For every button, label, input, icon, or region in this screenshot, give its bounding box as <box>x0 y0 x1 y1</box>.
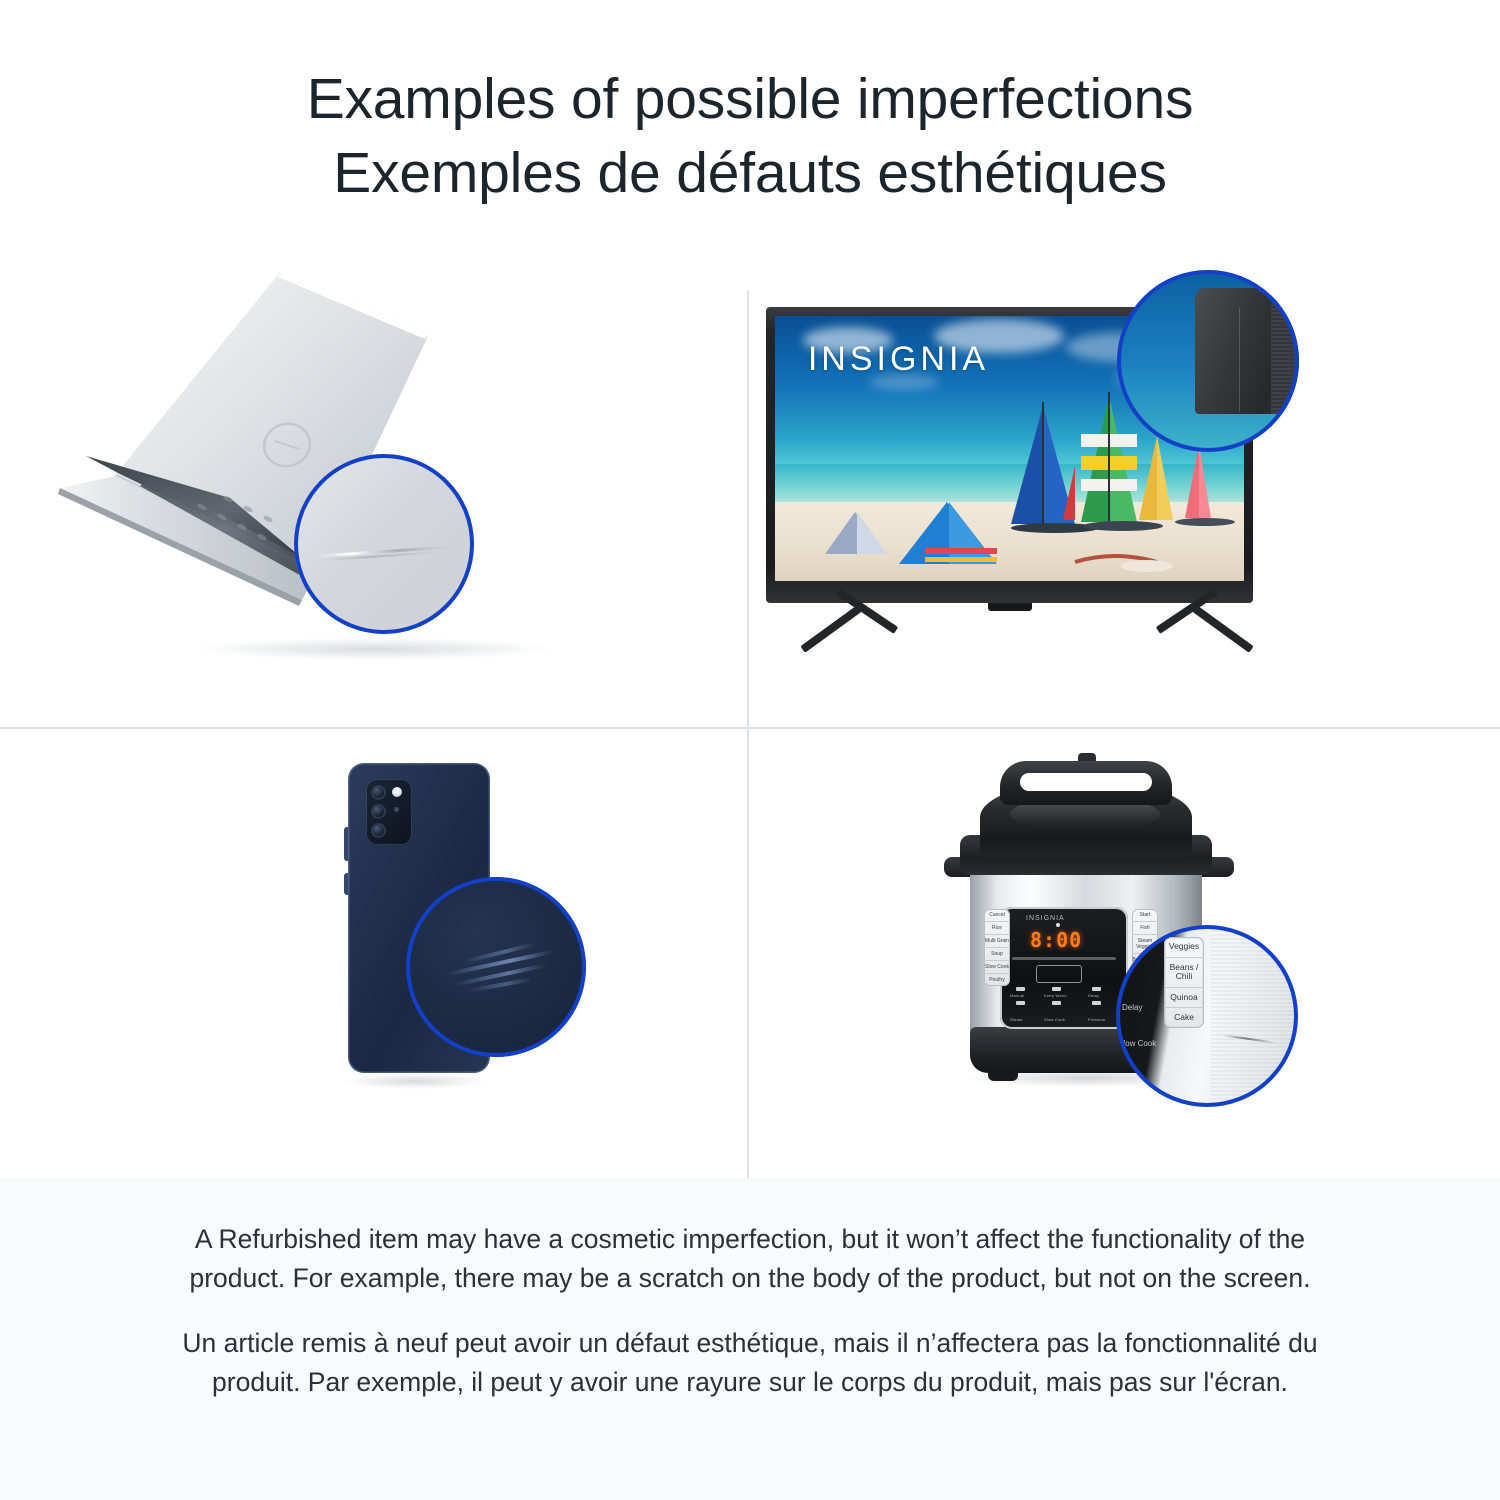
cooker-button[interactable] <box>1092 1001 1101 1005</box>
camera-lens-icon <box>371 785 386 800</box>
cooker-brushed-steel-texture <box>1211 925 1298 1107</box>
cooker-button-label: Manual <box>1010 993 1024 998</box>
phone-magnifier-fill <box>406 877 586 1057</box>
tv-leg-left-b <box>800 605 861 653</box>
cooker-time-display: 8:00 <box>1030 929 1086 951</box>
cooker-button[interactable] <box>1016 987 1025 991</box>
phone-camera-module <box>366 779 412 845</box>
cooker-magnified-label-slowcook: Slow Cook <box>1118 1039 1156 1048</box>
camera-lens-icon <box>371 804 386 819</box>
cooker-button[interactable] <box>1092 987 1101 991</box>
cooker-brand-label: INSIGNIA <box>1026 915 1065 922</box>
example-cell-television: INSIGNIA <box>748 260 1500 727</box>
cooker-preset-button[interactable]: Start <box>1132 909 1158 922</box>
footer-paragraph-french: Un article remis à neuf peut avoir un dé… <box>150 1324 1350 1402</box>
footer-paragraph-english: A Refurbished item may have a cosmetic i… <box>150 1220 1350 1298</box>
cooker-preset-button[interactable]: Rice <box>984 922 1010 935</box>
page-title-french: Exemples de défauts esthétiques <box>333 136 1167 210</box>
tv-ir-sensor <box>988 603 1032 611</box>
cooker-preset-button[interactable]: Soup <box>984 948 1010 961</box>
tv-magnifier-fill <box>1117 270 1299 452</box>
tv-stand <box>766 603 1253 645</box>
infographic-page: Examples of possible imperfections Exemp… <box>0 0 1500 1500</box>
cooker-magnifier-fill: Delay Slow Cook Veggies Beans / Chili Qu… <box>1116 925 1298 1107</box>
cooker-magnified-preset-column[interactable]: Veggies Beans / Chili Quinoa Cake <box>1164 937 1204 1028</box>
laptop-magnifier-fill <box>294 454 474 634</box>
example-cell-smartphone <box>0 727 748 1178</box>
cooker-button-label: Keep Warm <box>1044 993 1067 998</box>
cooker-pressure-select[interactable] <box>1036 965 1082 983</box>
page-title-english: Examples of possible imperfections <box>307 62 1194 136</box>
cooker-magnified-label-delay: Delay <box>1122 1003 1142 1012</box>
cooker-foot-left <box>988 1069 1018 1081</box>
cooker-preset-button[interactable]: Cancel <box>984 909 1010 922</box>
cooker-control-panel[interactable]: INSIGNIA 8:00 Manual Keep Warm Delay Ste… <box>1000 907 1128 1029</box>
laptop-illustration <box>0 260 748 727</box>
phone-shadow <box>345 1073 485 1089</box>
cooker-button-label: Slow Cook <box>1044 1017 1065 1022</box>
television-illustration: INSIGNIA <box>748 260 1500 727</box>
cooker-preset-button[interactable]: Fish <box>1132 922 1158 935</box>
cooker-preset-button[interactable]: Slow Cook <box>984 961 1010 974</box>
product-examples-grid: INSIGNIA <box>0 260 1500 1178</box>
smartphone-illustration <box>0 727 748 1178</box>
tv-bezel-scuff-line <box>1239 308 1240 412</box>
cooker-preset-button[interactable]: Poultry <box>984 974 1010 986</box>
tv-bezel-side-edge <box>1271 288 1299 414</box>
tv-leg-right-b <box>1192 605 1253 653</box>
cooker-magnified-preset-button[interactable]: Quinoa <box>1164 988 1204 1009</box>
cooker-handle-opening <box>1020 773 1152 791</box>
example-cell-laptop <box>0 260 748 727</box>
cooker-button-label: Pressure <box>1088 1017 1106 1022</box>
example-cell-pressure-cooker: INSIGNIA 8:00 Manual Keep Warm Delay Ste… <box>748 727 1500 1178</box>
cooker-magnified-preset-button[interactable]: Veggies <box>1164 937 1204 958</box>
camera-sensor-icon <box>394 807 399 812</box>
camera-lens-icon <box>371 823 386 838</box>
cooker-magnified-preset-button[interactable]: Beans / Chili <box>1164 958 1204 988</box>
cooker-status-indicator <box>1056 923 1060 927</box>
cooker-button[interactable] <box>1016 1001 1025 1005</box>
camera-flash-icon <box>392 787 402 797</box>
cooker-mode-bar <box>1012 957 1116 960</box>
cooker-button-label: Steam <box>1010 1017 1023 1022</box>
cooker-button-label: Delay <box>1088 993 1099 998</box>
page-header: Examples of possible imperfections Exemp… <box>0 0 1500 260</box>
cooker-button[interactable] <box>1052 1001 1061 1005</box>
cooker-magnified-preset-button[interactable]: Cake <box>1164 1008 1204 1028</box>
cooker-button[interactable] <box>1052 987 1061 991</box>
pressure-cooker-illustration: INSIGNIA 8:00 Manual Keep Warm Delay Ste… <box>748 727 1500 1178</box>
page-footer: A Refurbished item may have a cosmetic i… <box>0 1178 1500 1500</box>
cooker-preset-column-left[interactable]: Cancel Rice Multi Grain Soup Slow Cook P… <box>984 909 1010 986</box>
cooker-preset-button[interactable]: Multi Grain <box>984 935 1010 948</box>
